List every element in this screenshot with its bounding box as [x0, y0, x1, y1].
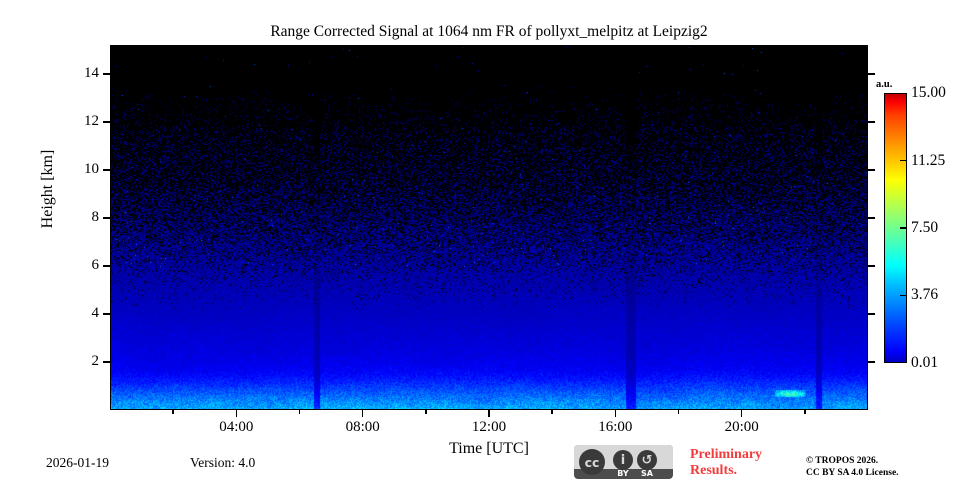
copyright-notice: © TROPOS 2026. CC BY SA 4.0 License. [806, 455, 899, 479]
heatmap-canvas [111, 46, 868, 410]
x-tick-mark [236, 410, 238, 417]
x-minor-tick-mark [172, 45, 174, 49]
y-tick-label: 12 [55, 113, 99, 130]
x-tick-mark [362, 410, 364, 417]
y-tick-label: 6 [55, 257, 99, 274]
page-title: Range Corrected Signal at 1064 nm FR of … [110, 22, 868, 41]
x-minor-tick-mark [804, 45, 806, 49]
x-minor-tick-mark [299, 45, 301, 49]
y-tick-label: 8 [55, 209, 99, 226]
y-tick-mark [868, 361, 875, 363]
cc-by-person-icon: i [613, 450, 633, 470]
cc-license-badge[interactable]: cc i ↺ BY SA [574, 445, 673, 479]
y-axis-title: Height [km] [39, 99, 57, 279]
x-tick-mark [362, 45, 364, 52]
colorbar-tick-label: 3.76 [911, 286, 938, 304]
x-minor-tick-mark [551, 410, 553, 414]
y-tick-mark [868, 169, 875, 171]
preliminary-line-1: Preliminary [690, 447, 762, 463]
colorbar-tick-mark [900, 295, 907, 296]
colorbar-tick-mark [900, 227, 907, 228]
y-tick-mark [868, 73, 875, 75]
x-minor-tick-mark [678, 45, 680, 49]
y-tick-mark [103, 265, 110, 267]
x-tick-label: 12:00 [449, 419, 529, 436]
x-tick-mark [741, 45, 743, 52]
y-tick-mark [103, 121, 110, 123]
preliminary-results-notice: Preliminary Results. [690, 447, 762, 478]
x-minor-tick-mark [678, 410, 680, 414]
colorbar-tick-mark [900, 160, 907, 161]
colorbar-tick-label: 15.00 [911, 84, 946, 102]
y-tick-mark [103, 73, 110, 75]
x-minor-tick-mark [425, 410, 427, 414]
x-tick-label: 16:00 [575, 419, 655, 436]
x-tick-mark [488, 45, 490, 52]
y-tick-label: 2 [55, 353, 99, 370]
y-tick-mark [868, 313, 875, 315]
x-minor-tick-mark [299, 410, 301, 414]
copyright-line-2: CC BY SA 4.0 License. [806, 467, 899, 479]
figure-root: Range Corrected Signal at 1064 nm FR of … [0, 0, 960, 480]
lidar-quicklook-plot [110, 45, 868, 410]
x-tick-mark [741, 410, 743, 417]
x-tick-label: 20:00 [702, 419, 782, 436]
colorbar-tick-label: 7.50 [911, 219, 938, 237]
colorbar-tick-label: 11.25 [911, 152, 945, 170]
cc-sa-share-icon: ↺ [637, 450, 657, 470]
footer-date: 2026-01-19 [46, 455, 109, 471]
footer-version: Version: 4.0 [190, 455, 255, 471]
copyright-line-1: © TROPOS 2026. [806, 455, 899, 467]
preliminary-line-2: Results. [690, 463, 762, 479]
x-tick-mark [615, 410, 617, 417]
x-minor-tick-mark [172, 410, 174, 414]
y-tick-label: 14 [55, 65, 99, 82]
y-tick-mark [103, 169, 110, 171]
x-minor-tick-mark [425, 45, 427, 49]
y-tick-mark [103, 361, 110, 363]
cc-sa-label: SA [635, 469, 659, 478]
y-tick-mark [868, 121, 875, 123]
y-tick-mark [103, 217, 110, 219]
cc-by-label: BY [611, 469, 635, 478]
x-tick-label: 04:00 [196, 419, 276, 436]
x-minor-tick-mark [551, 45, 553, 49]
x-tick-label: 08:00 [323, 419, 403, 436]
y-tick-mark [103, 313, 110, 315]
y-tick-label: 10 [55, 161, 99, 178]
y-tick-label: 4 [55, 305, 99, 322]
x-minor-tick-mark [804, 410, 806, 414]
colorbar-tick-label: 0.01 [911, 354, 938, 372]
x-tick-mark [488, 410, 490, 417]
y-tick-mark [868, 217, 875, 219]
y-tick-mark [868, 265, 875, 267]
x-tick-mark [615, 45, 617, 52]
cc-icon: cc [579, 449, 605, 475]
colorbar-unit-label: a.u. [876, 79, 892, 90]
x-tick-mark [236, 45, 238, 52]
